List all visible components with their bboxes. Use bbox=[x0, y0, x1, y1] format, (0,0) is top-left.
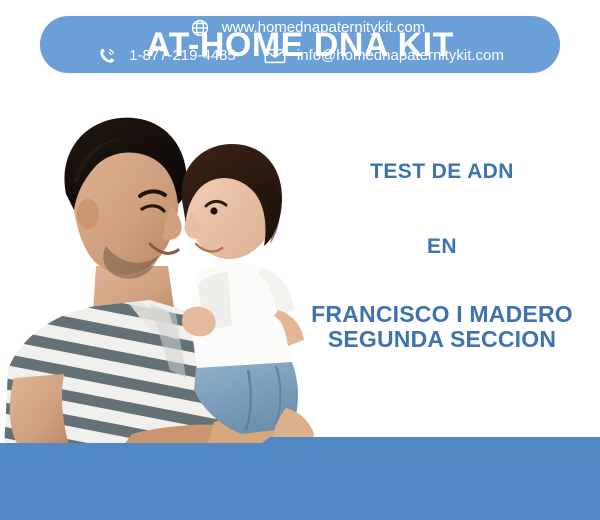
headline-block: TEST DE ADN EN FRANCISCO I MADERO SEGUND… bbox=[292, 160, 592, 352]
headline-line-location: FRANCISCO I MADERO SEGUNDA SECCION bbox=[292, 302, 592, 352]
poster-canvas: AT-HOME DNA KIT bbox=[0, 0, 600, 520]
footer-website[interactable]: www.homednapaternitykit.com bbox=[189, 17, 425, 39]
phone-icon bbox=[96, 45, 118, 67]
headline-location-line2: SEGUNDA SECCION bbox=[292, 327, 592, 352]
footer-phone-label: 1-877-219-4485 bbox=[129, 47, 236, 64]
headline-line-en: EN bbox=[292, 235, 592, 258]
headline-location-line1: FRANCISCO I MADERO bbox=[292, 302, 592, 327]
footer-phone[interactable]: 1-877-219-4485 bbox=[96, 45, 236, 67]
footer-bar bbox=[0, 437, 600, 520]
footer-row-website: www.homednapaternitykit.com bbox=[175, 17, 425, 39]
footer-email-label: info@homednapaternitykit.com bbox=[297, 47, 504, 64]
envelope-icon bbox=[264, 45, 286, 67]
footer-contact-info: www.homednapaternitykit.com 1-877-219-44… bbox=[0, 0, 600, 83]
footer-row-phone-email: 1-877-219-4485 info@homednapaternitykit.… bbox=[96, 45, 504, 67]
family-photo-illustration bbox=[0, 78, 320, 450]
headline-line-test: TEST DE ADN bbox=[292, 160, 592, 183]
footer-website-label: www.homednapaternitykit.com bbox=[222, 19, 425, 36]
footer-email[interactable]: info@homednapaternitykit.com bbox=[264, 45, 504, 67]
family-photo bbox=[0, 78, 320, 450]
globe-icon bbox=[189, 17, 211, 39]
